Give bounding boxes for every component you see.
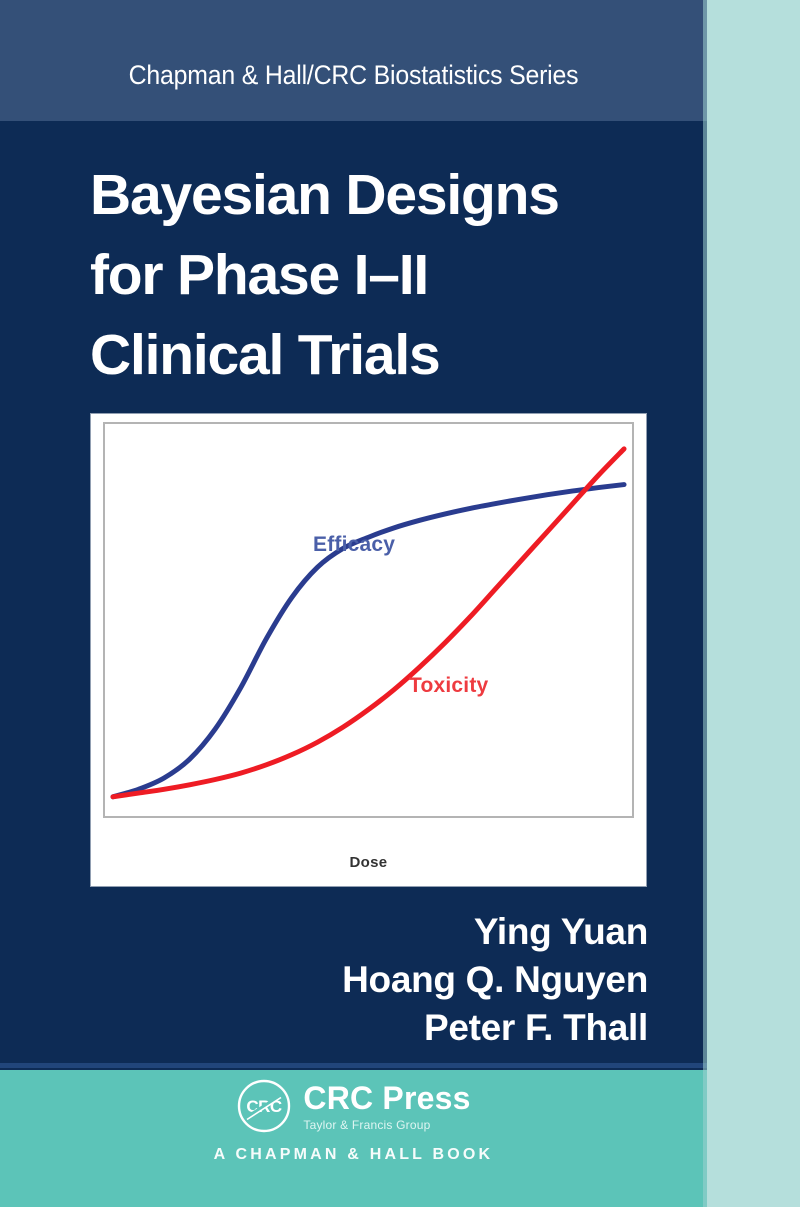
crc-press-lockup: CRC CRC Press Taylor & Francis Group (0, 1078, 707, 1134)
publisher-name: CRC Press (303, 1082, 470, 1114)
author-1: Ying Yuan (120, 908, 648, 956)
dose-response-curves (105, 424, 632, 816)
book-title: Bayesian Designs for Phase I–II Clinical… (90, 155, 670, 395)
toxicity-label: Toxicity (409, 674, 488, 698)
imprint-line: A CHAPMAN & HALL BOOK (0, 1146, 707, 1164)
publisher-wordmark: CRC Press Taylor & Francis Group (303, 1082, 470, 1131)
publisher-group: Taylor & Francis Group (303, 1119, 470, 1131)
crc-roundel-icon: CRC (236, 1078, 292, 1134)
author-block: Ying Yuan Hoang Q. Nguyen Peter F. Thall (120, 908, 648, 1052)
spine-strip (707, 0, 800, 1207)
series-title: Chapman & Hall/CRC Biostatistics Series (28, 60, 678, 91)
title-line-1: Bayesian Designs (90, 155, 670, 235)
author-3: Peter F. Thall (120, 1004, 648, 1052)
cover-chart-card: Efficacy Toxicity Dose (91, 414, 646, 886)
toxicity-curve (113, 449, 624, 797)
title-line-2: for Phase I–II (90, 235, 670, 315)
footer-divider-rule (0, 1063, 707, 1068)
book-cover: Chapman & Hall/CRC Biostatistics Series … (0, 0, 800, 1207)
author-2: Hoang Q. Nguyen (120, 956, 648, 1004)
title-line-3: Clinical Trials (90, 315, 670, 395)
chart-plot-area (103, 422, 634, 818)
publisher-logo: CRC CRC Press Taylor & Francis Group A C… (0, 1078, 707, 1164)
x-axis-label: Dose (91, 854, 646, 871)
efficacy-label: Efficacy (313, 533, 395, 557)
